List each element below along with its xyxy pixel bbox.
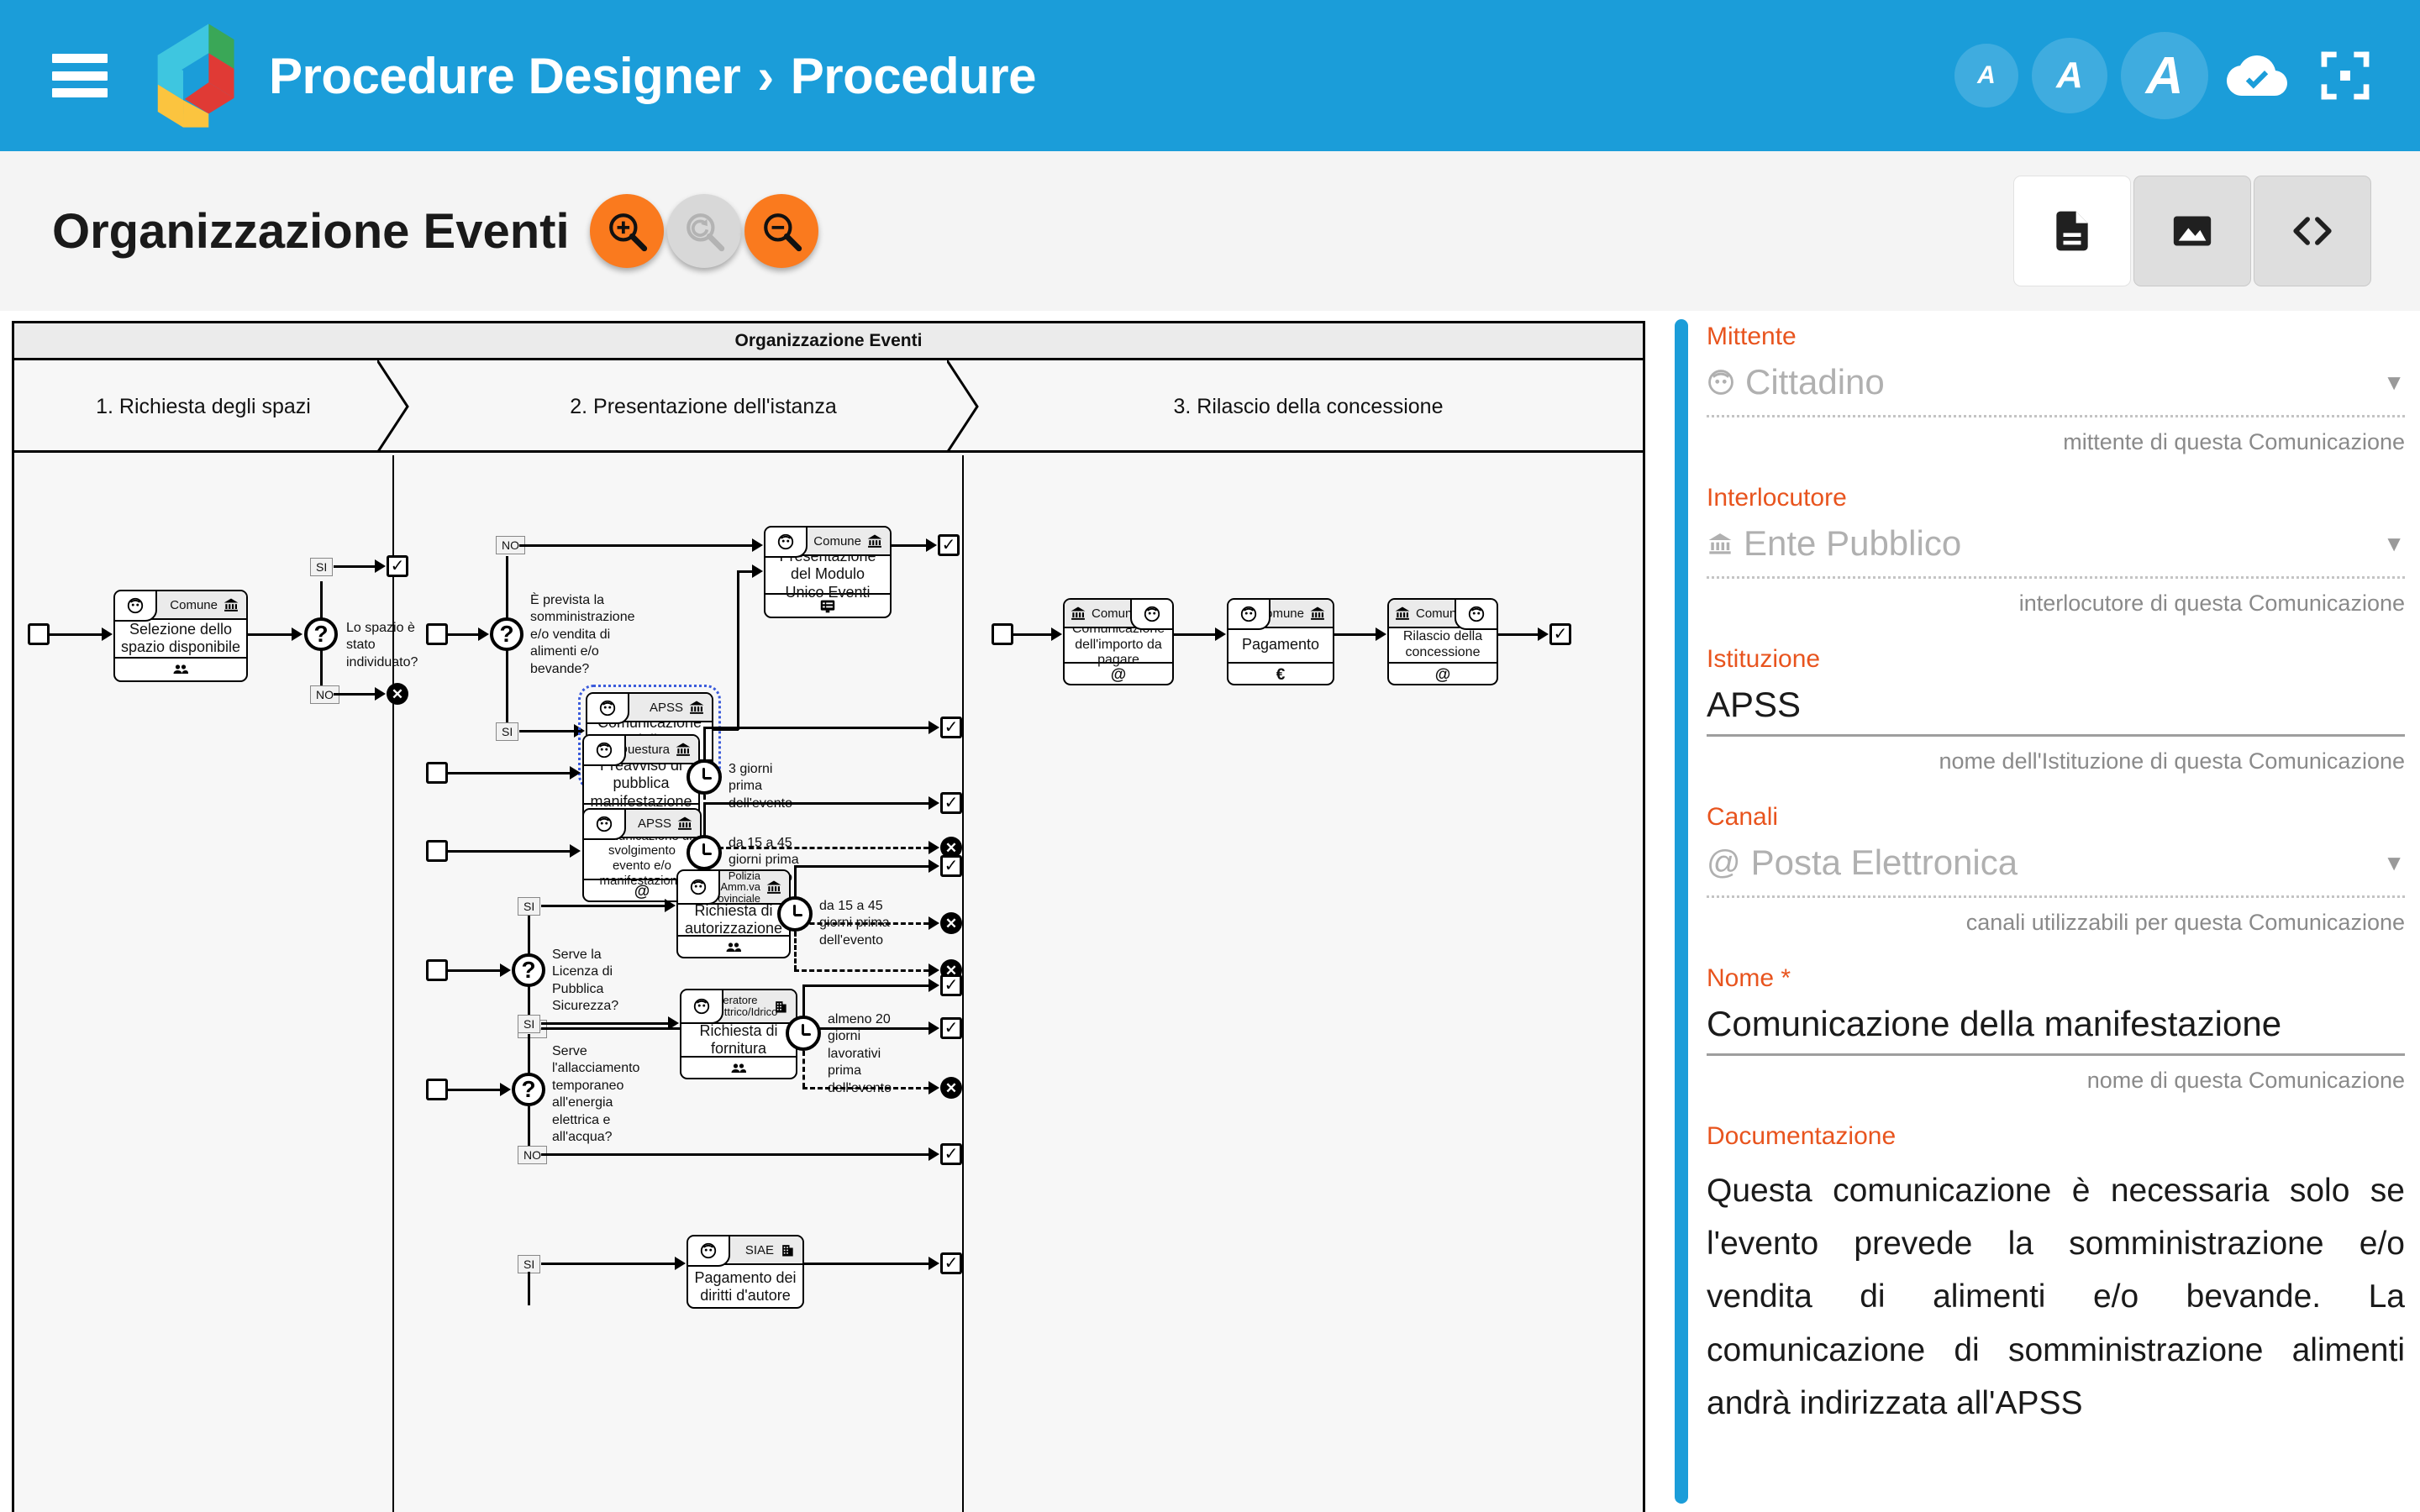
field-documentazione: Documentazione Questa comunicazione è ne… (1707, 1122, 2405, 1430)
end-event-ok[interactable]: ✓ (940, 1143, 962, 1165)
node-header: APSS (587, 694, 712, 722)
node-org-label: APSS (638, 816, 671, 831)
flow-connector (448, 772, 571, 774)
node-org-label: SIAE (745, 1243, 774, 1257)
compress-fullscreen-icon[interactable] (2319, 50, 2371, 102)
node-org-label: APSS (650, 701, 683, 715)
field-label: Interlocutore (1707, 484, 2405, 512)
flow-arrow (926, 538, 937, 552)
flow-arrow (570, 844, 581, 858)
interlocutore-select[interactable]: Ente Pubblico ▼ (1707, 519, 2405, 568)
node-footer-euro-icon: € (1228, 662, 1333, 685)
flow-arrow (1215, 627, 1226, 641)
flow-connector (519, 544, 753, 547)
person-icon (113, 590, 157, 622)
node-footer-people-icon (681, 1056, 796, 1079)
timer-event-4[interactable] (786, 1016, 821, 1051)
flow-connector (448, 633, 478, 636)
flow-arrow (752, 538, 763, 552)
end-event-ok[interactable]: ✓ (387, 555, 408, 577)
node-title: Richiesta di autorizzazione (678, 905, 789, 935)
timer-event-3[interactable] (777, 896, 813, 932)
flow-arrow (929, 1021, 939, 1035)
branch-label-yes: SI (518, 1015, 540, 1033)
flow-arrow (929, 916, 939, 930)
pool-title: Organizzazione Eventi (14, 323, 1643, 360)
field-hint: nome di questa Comunicazione (1707, 1068, 2405, 1094)
flow-connector (528, 1106, 530, 1148)
task-node-rilascio-concessione[interactable]: Comune Rilascio della concessione @ (1387, 598, 1498, 685)
branch-label-yes: SI (310, 558, 333, 576)
flow-arrow (929, 796, 939, 810)
flow-connector (541, 1153, 930, 1156)
nome-value: Comunicazione della manifestazione (1707, 1004, 2281, 1044)
flow-arrow (929, 1147, 939, 1161)
institution-icon (675, 741, 692, 758)
field-label: Nome * (1707, 964, 2405, 993)
person-icon (1227, 598, 1270, 630)
mittente-select[interactable]: Cittadino ▼ (1707, 358, 2405, 407)
zoom-reset-button[interactable] (667, 194, 741, 268)
zoom-in-button[interactable] (590, 194, 664, 268)
institution-icon (1394, 605, 1411, 622)
node-header: Comune (1228, 600, 1333, 628)
flow-connector (320, 650, 323, 688)
flow-connector (448, 969, 500, 972)
flow-connector (248, 633, 292, 636)
flow-connector (541, 1263, 676, 1265)
flow-arrow (929, 1257, 939, 1270)
property-fields: Mittente Cittadino ▼ mittente di questa … (1707, 323, 2405, 1430)
flow-connector (802, 984, 805, 1018)
cloud-saved-icon[interactable] (2227, 45, 2287, 106)
institution-icon (1707, 530, 1733, 557)
at-icon: @ (1707, 846, 1741, 879)
flow-arrow (929, 963, 939, 977)
end-event-ok[interactable]: ✓ (940, 1017, 962, 1039)
flow-arrow (570, 766, 581, 780)
flow-connector-dashed (794, 969, 929, 972)
node-title: Preavviso di pubblica manifestazione (584, 764, 698, 803)
breadcrumb-separator-icon: › (757, 47, 773, 105)
field-underline (1707, 895, 2405, 898)
view-code-button[interactable] (2254, 176, 2371, 286)
branch-label-yes: SI (518, 1255, 540, 1273)
task-node-pagamento-diritti[interactable]: SIAE Pagamento dei diritti d'autore (687, 1235, 804, 1309)
chevron-down-icon[interactable]: ▼ (2383, 370, 2405, 396)
flow-arrow (929, 841, 939, 854)
flow-connector (448, 1089, 500, 1091)
phase-divider-2-icon (947, 360, 981, 453)
institution-icon (223, 596, 239, 613)
node-header: Operatore Elettrico/Idrico (681, 990, 796, 1024)
field-underline (1707, 1053, 2405, 1056)
end-event-ok[interactable]: ✓ (938, 534, 960, 556)
lane-divider-1 (392, 455, 394, 1512)
documentation-text[interactable]: Questa comunicazione è necessaria solo s… (1707, 1164, 2405, 1430)
breadcrumb-app-name[interactable]: Procedure Designer (269, 47, 740, 105)
person-icon (764, 526, 808, 558)
field-underline (1707, 415, 2405, 417)
field-canali: Canali @ Posta Elettronica ▼ canali util… (1707, 803, 2405, 936)
istituzione-input[interactable]: APSS (1707, 680, 2405, 729)
branch-label-yes: SI (496, 722, 518, 741)
timer-label: da 15 a 45 giorni prima dell'evento (819, 898, 900, 949)
person-icon (687, 1235, 730, 1267)
chevron-down-icon[interactable]: ▼ (2383, 531, 2405, 557)
field-hint: mittente di questa Comunicazione (1707, 429, 2405, 455)
flow-connector (892, 544, 927, 547)
lane-area: Comune Selezione dello spazio disponibil… (14, 455, 1643, 1512)
interlocutore-value: Ente Pubblico (1744, 523, 1961, 564)
person-icon (1455, 598, 1498, 630)
phase-1[interactable]: 1. Richiesta degli spazi (14, 360, 392, 453)
gateway-label: È prevista la somministrazione e/o vendi… (530, 592, 621, 678)
node-footer-people-icon (115, 657, 246, 682)
field-hint: canali utilizzabili per questa Comunicaz… (1707, 910, 2405, 936)
flow-arrow (752, 564, 763, 578)
chevron-down-icon[interactable]: ▼ (2383, 850, 2405, 876)
flow-connector-dashed (794, 932, 797, 970)
flow-connector (519, 730, 575, 732)
branch-label-yes: SI (518, 897, 540, 916)
task-node-comunicazione-importo[interactable]: Comune Comunicazione dell'importo da pag… (1063, 598, 1174, 685)
nome-input[interactable]: Comunicazione della manifestazione (1707, 1000, 2405, 1048)
flow-arrow (929, 859, 939, 873)
flow-arrow (1051, 627, 1062, 641)
node-title: Richiesta di fornitura (681, 1024, 796, 1056)
person-icon (676, 869, 720, 905)
node-header: Polizia Amm.va Provinciale (678, 871, 789, 905)
flow-arrow (1538, 627, 1549, 641)
start-event-6[interactable] (426, 1079, 448, 1100)
process-pool: Organizzazione Eventi 1. Richiesta degli… (12, 321, 1645, 1512)
end-event-ok[interactable]: ✓ (940, 974, 962, 996)
gateway-somministrazione[interactable]: ? (490, 617, 523, 651)
flow-connector (1334, 633, 1376, 636)
person-icon (1130, 598, 1174, 630)
brand-logo-icon (139, 22, 239, 129)
flow-connector (794, 865, 930, 868)
flow-arrow (478, 627, 489, 641)
field-hint: nome dell'Istituzione di questa Comunica… (1707, 748, 2405, 774)
header-actions: A A A (1954, 32, 2371, 119)
node-header: Comune (115, 591, 246, 620)
flow-connector (804, 1263, 930, 1265)
node-org-label: Comune (170, 598, 218, 612)
end-event-ko[interactable]: ✕ (940, 912, 962, 934)
node-header: Comune (1389, 600, 1497, 628)
flow-arrow (500, 1083, 511, 1096)
flow-connector (50, 633, 102, 636)
spacer (1707, 936, 2405, 964)
properties-panel: Mittente Cittadino ▼ mittente di questa … (1668, 311, 2420, 1512)
task-node-richiesta-fornitura[interactable]: Operatore Elettrico/Idrico Richiesta di … (680, 989, 797, 1079)
flow-connector (334, 565, 376, 568)
spacer (1707, 455, 2405, 484)
field-label: Canali (1707, 803, 2405, 832)
spacer (1707, 617, 2405, 645)
start-event-3[interactable] (426, 762, 448, 784)
node-footer-people-icon (678, 935, 789, 958)
flow-arrow (375, 559, 386, 573)
start-event-1[interactable] (28, 623, 50, 645)
app-header: Procedure Designer › Procedure A A A (0, 0, 2420, 151)
font-size-medium-button[interactable]: A (2032, 38, 2107, 113)
flow-connector (541, 905, 665, 907)
flow-connector (703, 802, 706, 837)
end-event-ok[interactable]: ✓ (1549, 623, 1571, 645)
phase-2[interactable]: 2. Presentazione dell'istanza (409, 360, 997, 453)
lane-divider-2 (962, 455, 964, 1512)
flow-connector (528, 1272, 530, 1305)
end-event-ok[interactable]: ✓ (940, 717, 962, 738)
flow-arrow (929, 979, 939, 992)
flow-arrow (292, 627, 302, 641)
diagram-canvas[interactable]: Organizzazione Eventi 1. Richiesta degli… (0, 311, 1668, 1512)
start-event-5[interactable] (426, 959, 448, 981)
breadcrumb-section[interactable]: Procedure (791, 47, 1036, 105)
breadcrumb: Procedure Designer › Procedure (269, 47, 1036, 105)
institution-icon (688, 699, 705, 716)
gateway-label: Lo spazio è stato individuato? (346, 620, 439, 671)
phase-1-label: 1. Richiesta degli spazi (96, 395, 311, 419)
timer-label: almeno 20 giorni lavorativi prima dell'e… (828, 1011, 908, 1097)
node-header: Comune (765, 528, 890, 556)
flow-arrow (375, 687, 386, 701)
flow-connector (334, 693, 376, 696)
phase-3-label: 3. Rilascio della concessione (1173, 395, 1443, 419)
phase-divider-1-icon (377, 360, 411, 453)
person-icon (680, 989, 723, 1024)
zoom-out-button[interactable] (744, 194, 818, 268)
gateway-allacciamento[interactable]: ? (512, 1073, 545, 1106)
task-node-richiesta-autorizzazione[interactable]: Polizia Amm.va Provinciale Richiesta di … (676, 869, 791, 958)
canali-value: Posta Elettronica (1751, 843, 2018, 883)
field-label: Mittente (1707, 323, 2405, 351)
institution-icon (676, 815, 693, 832)
node-header: SIAE (688, 1236, 802, 1265)
person-icon (586, 692, 629, 724)
hamburger-menu-icon[interactable] (52, 54, 108, 97)
start-event-4[interactable] (426, 840, 448, 862)
node-header: Comune (1065, 600, 1172, 628)
gateway-licenza-ps[interactable]: ? (512, 953, 545, 987)
flow-connector (737, 570, 739, 730)
field-nome: Nome * Comunicazione della manifestazion… (1707, 964, 2405, 1094)
view-image-button[interactable] (2133, 176, 2251, 286)
phase-2-label: 2. Presentazione dell'istanza (570, 395, 836, 419)
flow-arrow (500, 963, 511, 977)
flow-connector (448, 850, 571, 853)
end-event-ok[interactable]: ✓ (940, 1252, 962, 1274)
view-mode-group (2013, 176, 2371, 286)
flow-arrow (102, 627, 113, 641)
page-title: Organizzazione Eventi (52, 203, 570, 260)
flow-arrow (929, 1081, 939, 1095)
flow-arrow (675, 1257, 686, 1270)
company-icon (779, 1242, 796, 1258)
node-org-label: Comune (813, 534, 861, 549)
timer-label: 3 giorni prima dell'evento (729, 761, 806, 812)
spacer (1707, 1094, 2405, 1122)
canali-select[interactable]: @ Posta Elettronica ▼ (1707, 838, 2405, 887)
field-istituzione: Istituzione APSS nome dell'Istituzione d… (1707, 645, 2405, 774)
font-size-small-button[interactable]: A (1954, 44, 2018, 108)
zoom-controls (590, 194, 818, 268)
gateway-spazio-individuato[interactable]: ? (304, 617, 338, 651)
start-event-7[interactable] (992, 623, 1013, 645)
flow-connector-dashed (802, 1051, 805, 1088)
node-title: Rilascio della concessione (1389, 628, 1497, 662)
spacer (1707, 774, 2405, 803)
field-label: Istituzione (1707, 645, 2405, 674)
document-toolbar: Organizzazione Eventi (0, 151, 2420, 311)
node-title: Presentazione del Modulo Unico Eventi (765, 556, 890, 593)
institution-icon (1070, 605, 1086, 622)
phase-header-row: 1. Richiesta degli spazi 2. Presentazion… (14, 360, 1643, 453)
flow-connector (703, 727, 930, 729)
node-header: APSS (584, 810, 700, 838)
end-event-ko[interactable]: ✕ (940, 1077, 962, 1099)
panel-scrollbar[interactable] (1675, 319, 1688, 1504)
person-icon (582, 734, 626, 766)
field-underline (1707, 734, 2405, 737)
start-event-2[interactable] (426, 623, 448, 645)
flow-connector (1174, 633, 1216, 636)
end-event-ok[interactable]: ✓ (940, 855, 962, 877)
view-document-button[interactable] (2013, 176, 2131, 286)
institution-icon (866, 533, 883, 549)
flow-connector (1498, 633, 1539, 636)
flow-connector (794, 865, 797, 899)
field-mittente: Mittente Cittadino ▼ mittente di questa … (1707, 323, 2405, 455)
task-node-pagamento[interactable]: Comune Pagamento € (1227, 598, 1334, 685)
istituzione-value: APSS (1707, 685, 1801, 725)
institution-icon (765, 879, 782, 895)
flow-arrow (929, 721, 939, 734)
flow-connector (506, 556, 508, 619)
flow-connector-dashed (802, 1087, 929, 1089)
flow-connector (703, 727, 706, 762)
flow-connector (802, 984, 930, 987)
field-underline (1707, 576, 2405, 579)
gateway-label: Serve la Licenza di Pubblica Sicurezza? (552, 947, 634, 1016)
node-title: Pagamento dei diritti d'autore (688, 1265, 802, 1309)
timer-event-1[interactable] (687, 759, 722, 795)
mittente-value: Cittadino (1745, 362, 1885, 402)
institution-icon (1309, 605, 1326, 622)
company-icon (772, 998, 789, 1015)
flow-connector (703, 802, 930, 805)
flow-arrow (668, 1016, 679, 1030)
flow-connector (1013, 633, 1052, 636)
person-icon (1707, 368, 1735, 396)
font-size-large-button[interactable]: A (2121, 32, 2208, 119)
field-label: Documentazione (1707, 1122, 2405, 1151)
node-footer-at-icon: @ (1389, 662, 1497, 685)
end-event-ok[interactable]: ✓ (940, 792, 962, 814)
person-icon (582, 808, 626, 840)
node-title: Pagamento (1228, 628, 1333, 662)
phase-3[interactable]: 3. Rilascio della concessione (981, 360, 1636, 453)
node-header: Questura (584, 736, 698, 764)
gateway-label: Serve l'allacciamento temporaneo all'ene… (552, 1043, 626, 1147)
task-node-presentazione-modulo[interactable]: Comune Presentazione del Modulo Unico Ev… (764, 526, 892, 618)
flow-arrow (665, 899, 676, 912)
flow-connector (320, 581, 323, 619)
field-interlocutore: Interlocutore Ente Pubblico ▼ interlocut… (1707, 484, 2405, 617)
field-hint: interlocutore di questa Comunicazione (1707, 591, 2405, 617)
flow-connector (528, 1034, 530, 1076)
flow-connector (528, 916, 530, 956)
flow-connector (506, 650, 508, 726)
node-title: Comunicazione dell'importo da pagare (1065, 628, 1172, 662)
flow-connector (541, 1022, 669, 1025)
node-title: Selezione dello spazio disponibile (115, 620, 246, 657)
end-event-ko[interactable]: ✕ (387, 683, 408, 705)
flow-arrow (1376, 627, 1386, 641)
task-node-selezione-spazio[interactable]: Comune Selezione dello spazio disponibil… (113, 590, 248, 682)
timer-event-2[interactable] (687, 835, 722, 870)
